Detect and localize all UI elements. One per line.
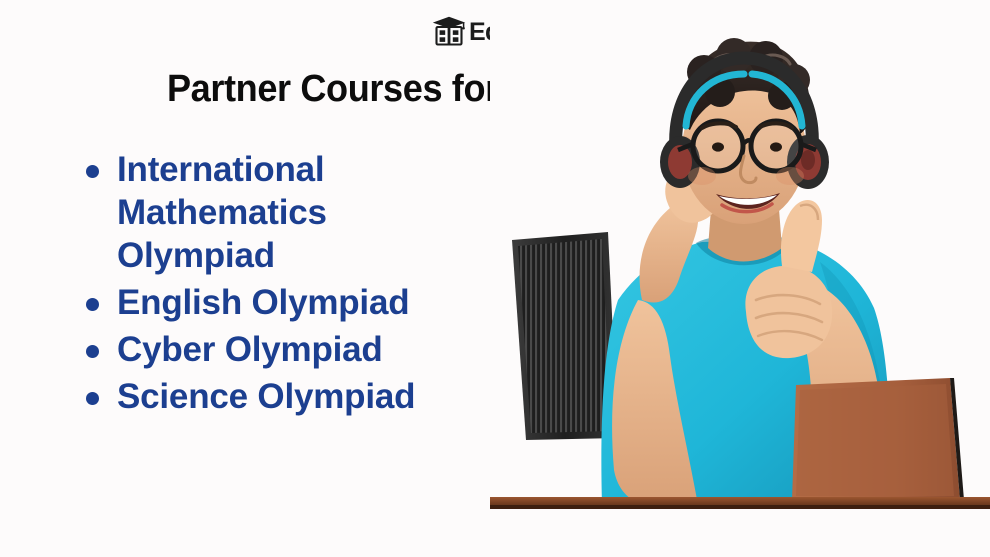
- course-label: English Olympiad: [117, 281, 409, 324]
- bullet-dot-icon: [86, 165, 99, 178]
- bullet-dot-icon: [86, 298, 99, 311]
- bullet-dot-icon: [86, 392, 99, 405]
- poster-canvas: EduRev Partner Courses for Class 9 Olymp…: [0, 0, 990, 557]
- desk: [490, 497, 990, 557]
- course-label: International Mathematics Olympiad: [117, 148, 417, 277]
- course-label: Science Olympiad: [117, 375, 415, 418]
- list-item: Science Olympiad: [86, 375, 516, 418]
- course-list: International Mathematics Olympiad Engli…: [86, 148, 516, 422]
- list-item: International Mathematics Olympiad: [86, 148, 516, 277]
- course-label: Cyber Olympiad: [117, 328, 383, 371]
- list-item: English Olympiad: [86, 281, 516, 324]
- student-with-headphones-photo: [490, 0, 990, 557]
- graduation-cap-book-icon: [432, 16, 466, 48]
- list-item: Cyber Olympiad: [86, 328, 516, 371]
- laptop: [792, 378, 964, 506]
- bullet-dot-icon: [86, 345, 99, 358]
